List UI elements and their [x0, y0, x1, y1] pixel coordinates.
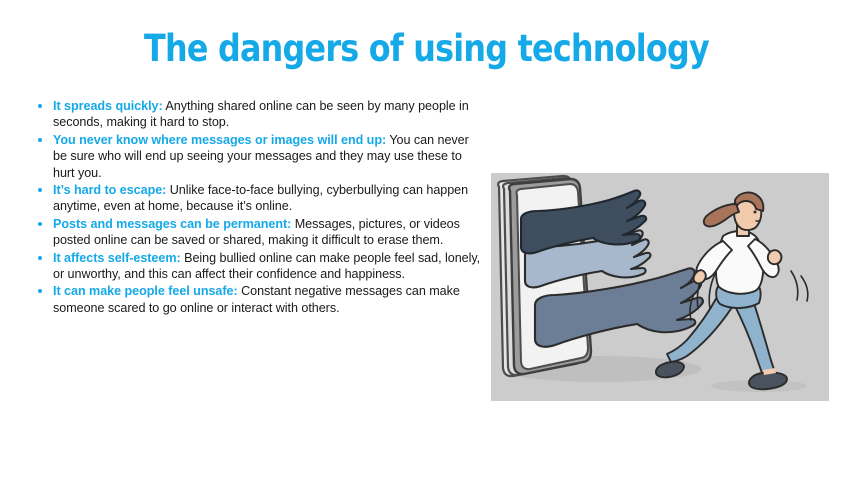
page-title: The dangers of using technology: [60, 28, 794, 69]
list-item: It’s hard to escape: Unlike face-to-face…: [30, 182, 482, 215]
bullet-dot-icon: [38, 222, 42, 226]
bullet-lead-in: It spreads quickly:: [53, 99, 163, 113]
bullet-dot-icon: [38, 289, 42, 293]
cyberbullying-illustration: [491, 173, 829, 401]
bullet-list: It spreads quickly: Anything shared onli…: [30, 98, 482, 317]
slide-canvas: The dangers of using technology It sprea…: [0, 0, 853, 479]
list-item: It spreads quickly: Anything shared onli…: [30, 98, 482, 131]
list-item: You never know where messages or images …: [30, 132, 482, 181]
bullet-dot-icon: [38, 188, 42, 192]
list-item: Posts and messages can be permanent: Mes…: [30, 216, 482, 249]
bullet-lead-in: It’s hard to escape:: [53, 183, 166, 197]
bullet-dot-icon: [38, 138, 42, 142]
list-item: It can make people feel unsafe: Constant…: [30, 283, 482, 316]
bullet-lead-in: It affects self-esteem:: [53, 251, 181, 265]
bullet-lead-in: It can make people feel unsafe:: [53, 284, 238, 298]
list-item: It affects self-esteem: Being bullied on…: [30, 250, 482, 283]
bullet-lead-in: Posts and messages can be permanent:: [53, 217, 291, 231]
bullet-lead-in: You never know where messages or images …: [53, 133, 386, 147]
bullet-dot-icon: [38, 104, 42, 108]
bullet-dot-icon: [38, 256, 42, 260]
